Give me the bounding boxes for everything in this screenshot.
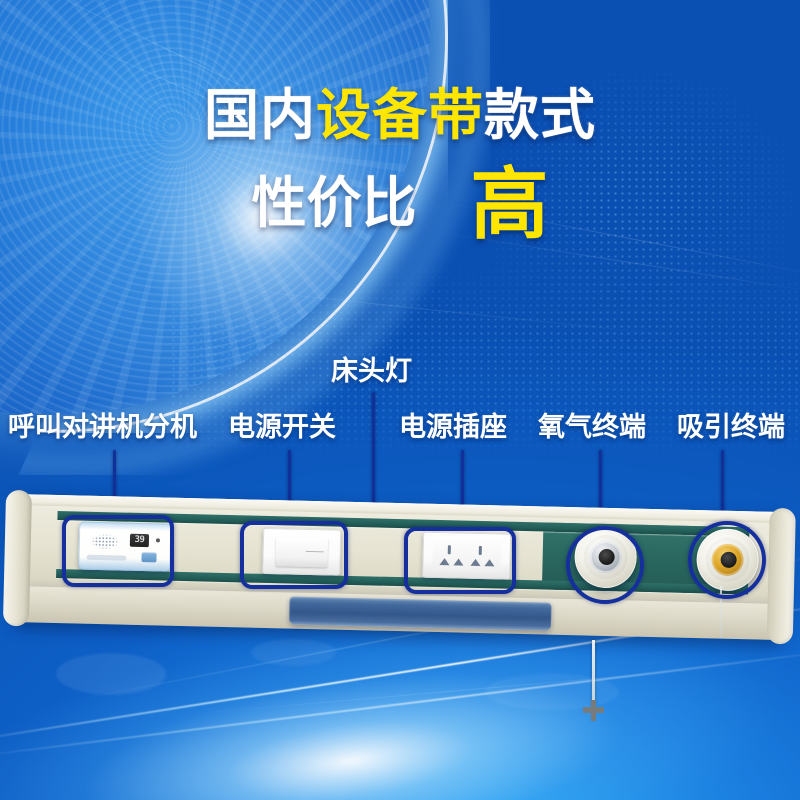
pull-cord[interactable] bbox=[592, 640, 595, 706]
callout-label-intercom: 呼叫对讲机分机 bbox=[8, 414, 197, 441]
headline-seg-1: 国内 bbox=[204, 84, 316, 146]
callout-label-power-socket: 电源插座 bbox=[399, 414, 507, 441]
headline-value-text: 性价比 bbox=[251, 172, 416, 234]
callout-label-bedside-lamp: 床头灯 bbox=[331, 358, 412, 385]
highlight-box-power-socket bbox=[404, 527, 516, 594]
highlight-box-power-switch bbox=[240, 521, 348, 589]
headline-seg-2: 设备带 bbox=[316, 84, 484, 146]
highlight-box-suction-terminal bbox=[688, 521, 766, 599]
highlight-box-intercom bbox=[62, 515, 174, 587]
callout-label-oxygen-terminal: 氧气终端 bbox=[538, 414, 646, 441]
panel-endcap-left bbox=[3, 490, 32, 627]
callout-label-suction-terminal: 吸引终端 bbox=[677, 414, 785, 441]
highlight-box-oxygen-terminal bbox=[566, 526, 644, 604]
headline-seg-3: 款式 bbox=[484, 84, 596, 146]
product-promo-image: 国内设备带款式 性价比高 呼叫对讲机分机 电源开关 床头灯 电源插座 氧气终端 … bbox=[0, 0, 800, 800]
headline-line-1: 国内设备带款式 bbox=[0, 88, 800, 143]
panel-endcap-right bbox=[767, 508, 796, 645]
headline-emphasis-text: 高 bbox=[471, 160, 549, 248]
headline-line-2: 性价比高 bbox=[0, 165, 800, 243]
callout-label-power-switch: 电源开关 bbox=[228, 414, 336, 441]
